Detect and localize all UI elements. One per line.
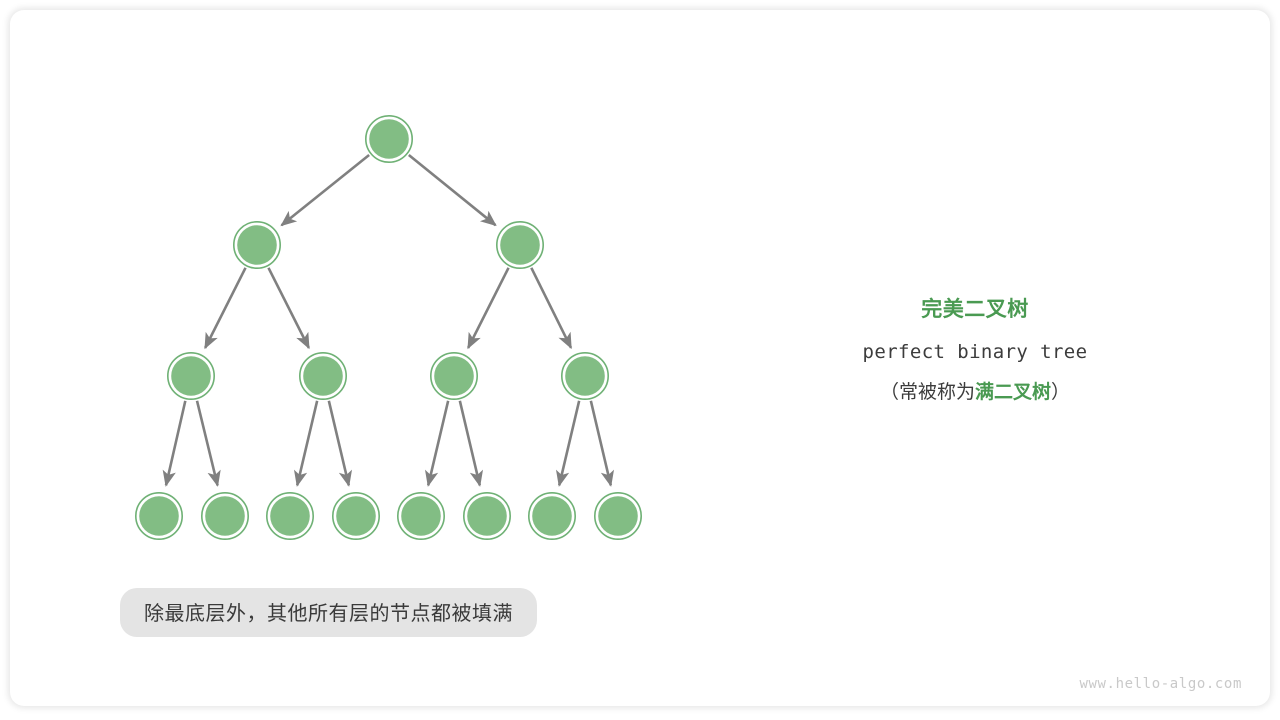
tree-node-disc (171, 356, 211, 396)
tree-node-disc (500, 225, 540, 265)
tree-edge (468, 268, 508, 348)
tree-node[interactable] (202, 493, 248, 539)
tree-edge (297, 401, 317, 486)
caption-badge: 除最底层外，其他所有层的节点都被填满 (120, 588, 537, 637)
tree-edge (205, 268, 245, 348)
tree-node-disc (565, 356, 605, 396)
tree-node[interactable] (497, 222, 543, 268)
tree-node[interactable] (234, 222, 280, 268)
tree-node[interactable] (333, 493, 379, 539)
tree-edge (460, 401, 480, 486)
legend-title: 完美二叉树 (840, 295, 1110, 325)
tree-node-disc (369, 119, 409, 159)
tree-node-disc (434, 356, 474, 396)
tree-edge (559, 401, 579, 486)
tree-node-disc (598, 496, 638, 536)
tree-edge (591, 401, 611, 486)
tree-node[interactable] (300, 353, 346, 399)
legend-alt-prefix: （常被称为 (880, 382, 975, 403)
tree-node[interactable] (595, 493, 641, 539)
tree-node[interactable] (464, 493, 510, 539)
tree-node-disc (270, 496, 310, 536)
tree-node[interactable] (136, 493, 182, 539)
tree-node-disc (336, 496, 376, 536)
tree-node[interactable] (267, 493, 313, 539)
tree-edge (268, 268, 308, 348)
legend-block: 完美二叉树 perfect binary tree （常被称为满二叉树） (840, 295, 1110, 407)
legend-subtitle: perfect binary tree (840, 339, 1110, 367)
tree-node[interactable] (562, 353, 608, 399)
tree-node[interactable] (398, 493, 444, 539)
tree-edge (329, 401, 349, 486)
tree-node[interactable] (431, 353, 477, 399)
tree-node-disc (205, 496, 245, 536)
tree-edge (428, 401, 448, 486)
tree-node-disc (237, 225, 277, 265)
tree-edge (197, 401, 218, 486)
tree-edge (282, 155, 370, 225)
tree-edge (166, 401, 185, 485)
diagram-card: 完美二叉树 perfect binary tree （常被称为满二叉树） 除最底… (10, 10, 1270, 706)
tree-node-disc (139, 496, 179, 536)
tree-node[interactable] (366, 116, 412, 162)
tree-edge (531, 268, 571, 348)
tree-node-disc (532, 496, 572, 536)
tree-edge (409, 155, 496, 225)
legend-alt-suffix: ） (1051, 382, 1070, 403)
tree-node-disc (303, 356, 343, 396)
tree-node-disc (401, 496, 441, 536)
legend-alt-highlight: 满二叉树 (975, 382, 1051, 403)
legend-alt-name: （常被称为满二叉树） (840, 379, 1110, 407)
tree-edge-layer (166, 155, 611, 485)
tree-node[interactable] (529, 493, 575, 539)
watermark: www.hello-algo.com (1079, 676, 1242, 692)
tree-node-disc (467, 496, 507, 536)
figure-canvas: 完美二叉树 perfect binary tree （常被称为满二叉树） 除最底… (0, 0, 1280, 720)
tree-node[interactable] (168, 353, 214, 399)
tree-node-layer (136, 116, 641, 539)
